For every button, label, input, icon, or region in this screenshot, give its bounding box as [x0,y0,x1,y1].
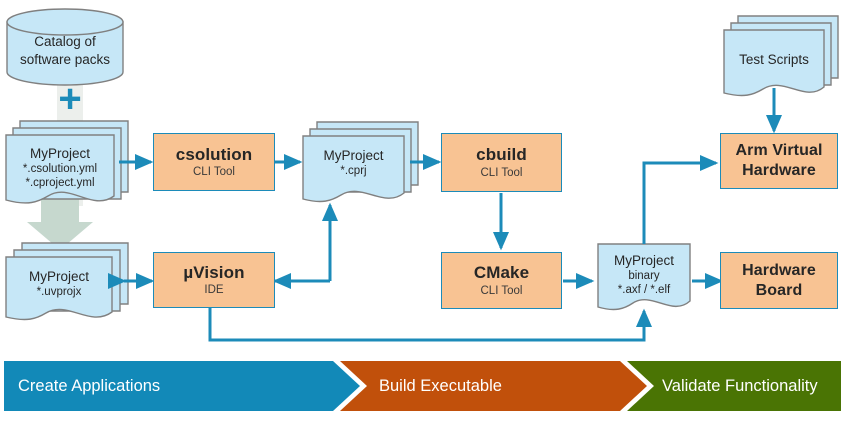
binary-line1: MyProject [614,253,674,269]
cmake-box[interactable]: CMake CLI Tool [441,252,562,309]
hardware-board-title-line1: Hardware [742,261,816,281]
binary-doc-label: MyProject binary *.axf / *.elf [598,248,690,302]
project-uvprojx-line2: *.uvprojx [37,285,82,299]
csolution-title: csolution [176,145,252,165]
phase-build-executable-label[interactable]: Build Executable [379,366,502,406]
test-scripts-label: Test Scripts [724,38,824,82]
hardware-board-title-line2: Board [756,281,803,301]
catalog-label: Catalog of software packs [7,26,123,76]
cbuild-box[interactable]: cbuild CLI Tool [441,133,562,192]
project-yml-line2: *.csolution.yml [23,162,97,176]
cmake-title: CMake [474,263,529,283]
plus-icon: + [52,82,88,118]
cbuild-subtitle: CLI Tool [481,167,523,180]
phase-create-applications-label[interactable]: Create Applications [18,366,160,406]
project-cprj-label: MyProject *.cprj [303,141,404,185]
catalog-line2: software packs [20,51,110,69]
project-yml-line1: MyProject [30,146,90,162]
csolution-box[interactable]: csolution CLI Tool [153,133,275,191]
project-uvprojx-line1: MyProject [29,269,89,285]
binary-line3: *.axf / *.elf [618,283,670,297]
arm-virtual-hardware-box[interactable]: Arm Virtual Hardware [720,133,838,189]
project-uvprojx-label: MyProject *.uvprojx [6,262,112,306]
binary-line2: binary [628,269,659,283]
uvision-subtitle: IDE [204,284,223,297]
csolution-subtitle: CLI Tool [193,166,235,179]
cbuild-title: cbuild [476,145,527,165]
diagram-text-layer: Catalog of software packs + MyProject *.… [0,0,845,436]
project-yml-label: MyProject *.csolution.yml *.cproject.yml [6,140,114,196]
avh-title-line1: Arm Virtual [735,141,822,161]
cmake-subtitle: CLI Tool [481,285,523,298]
project-cprj-line2: *.cprj [340,164,366,178]
catalog-line1: Catalog of [34,33,96,51]
phase-validate-functionality-label[interactable]: Validate Functionality [662,366,818,406]
avh-title-line2: Hardware [742,161,816,181]
project-yml-line3: *.cproject.yml [25,176,94,190]
uvision-title: µVision [183,263,244,283]
uvision-box[interactable]: µVision IDE [153,252,275,308]
hardware-board-box[interactable]: Hardware Board [720,252,838,309]
project-cprj-line1: MyProject [323,148,383,164]
test-scripts-line1: Test Scripts [739,52,809,68]
